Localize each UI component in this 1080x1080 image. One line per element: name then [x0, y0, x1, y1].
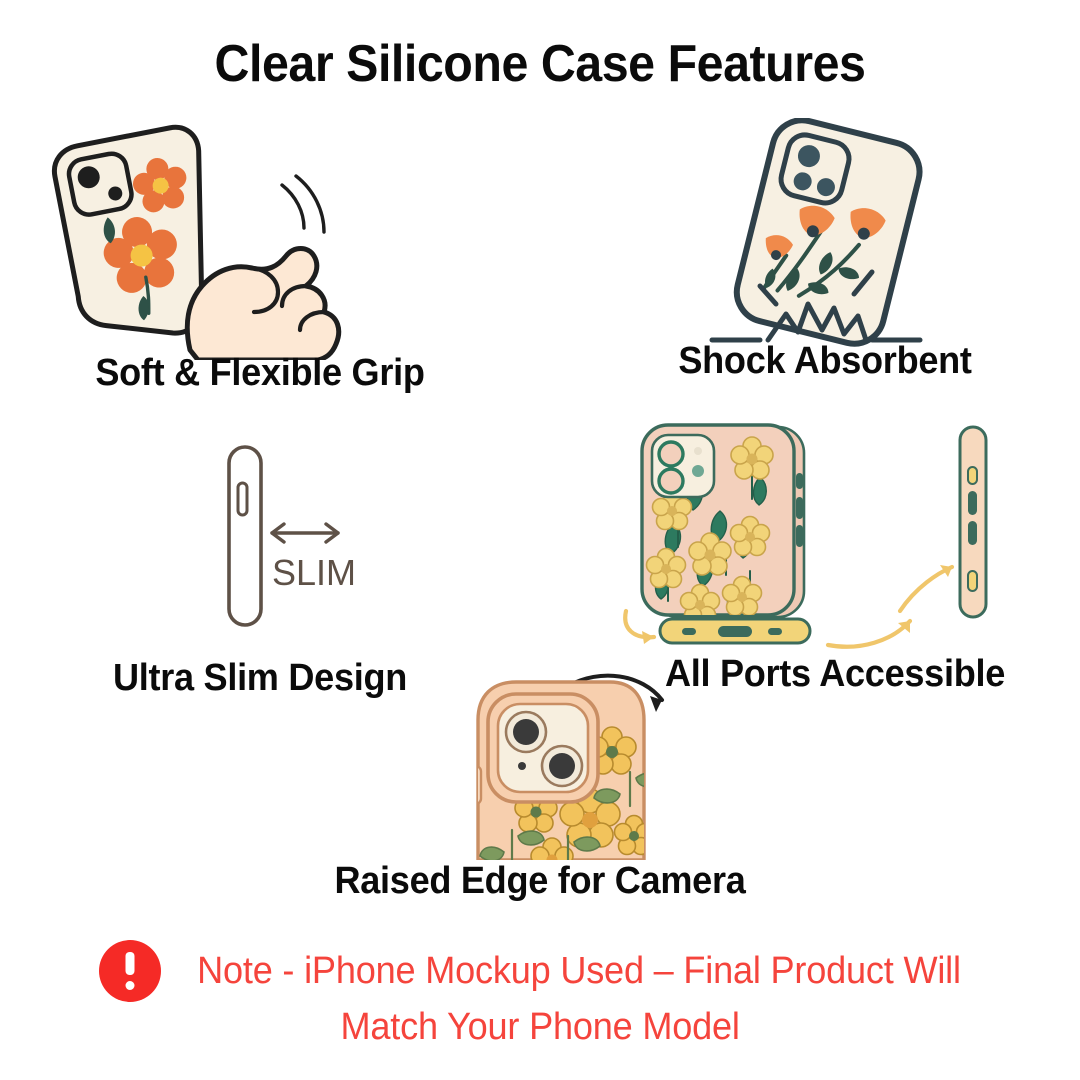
feature-label-raised-edge-for-camera: Raised Edge for Camera: [312, 860, 768, 903]
exclamation-circle-icon: [99, 940, 161, 1002]
note-line-1: Note - iPhone Mockup Used – Final Produc…: [197, 950, 961, 993]
note-line-2: Match Your Phone Model: [340, 1006, 739, 1049]
hand-flex-icon: [20, 120, 500, 360]
feature-raised-edge-for-camera: Raised Edge for Camera: [300, 660, 780, 930]
page-title: Clear Silicone Case Features: [38, 34, 1042, 94]
camera-bump-icon: [300, 660, 780, 860]
feature-label-soft-flexible-grip: Soft & Flexible Grip: [32, 352, 488, 395]
slim-profile-icon: SLIM: [20, 425, 500, 650]
infographic-page: Clear Silicone Case Features: [0, 0, 1080, 1080]
feature-soft-flexible-grip: Soft & Flexible Grip: [20, 120, 500, 410]
note-banner: Note - iPhone Mockup Used – Final Produc…: [0, 940, 1080, 1049]
feature-label-shock-absorbent: Shock Absorbent: [602, 340, 1049, 383]
drop-impact-icon: [590, 118, 1060, 348]
feature-shock-absorbent: Shock Absorbent: [590, 118, 1060, 408]
slim-annotation-text: SLIM: [272, 552, 356, 593]
ports-cutout-icon: [600, 415, 1070, 650]
